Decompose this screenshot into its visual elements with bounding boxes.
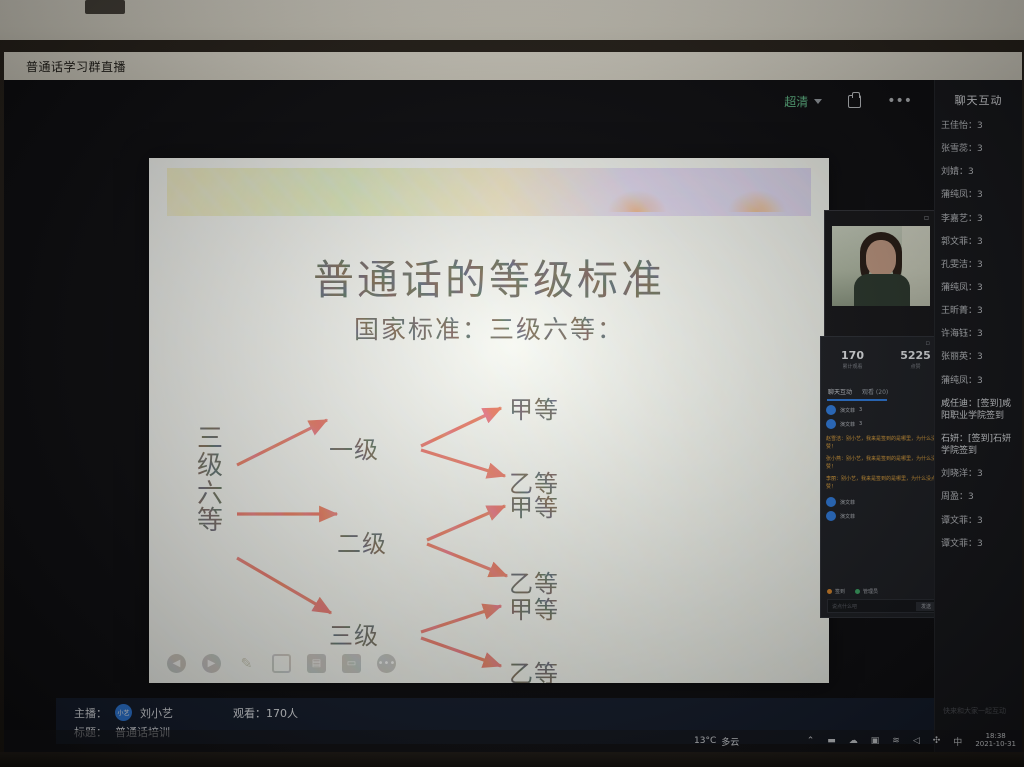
message-name: 演文菲	[840, 421, 855, 428]
tab-viewers[interactable]: 观看 (20)	[862, 387, 888, 396]
list-item: 张丽英：3	[941, 351, 1016, 363]
diagram-root-label: 三级六等	[187, 426, 233, 535]
list-item: 谭文菲：3	[941, 515, 1016, 527]
list-item: 孔雯洁：3	[941, 259, 1016, 271]
weather-temp: 13°C	[694, 736, 716, 746]
wifi-icon[interactable]: ≋	[892, 736, 900, 746]
more-icon[interactable]: •••	[377, 654, 396, 673]
list-item: 周盈：3	[941, 491, 1016, 503]
list-item: 郭文菲：3	[941, 236, 1016, 248]
viewer-count: 观看：170人	[233, 705, 298, 721]
stat-viewers-value: 170	[821, 349, 884, 362]
chevron-up-icon[interactable]: ⌃	[807, 736, 815, 746]
message-name: 演文菲	[840, 407, 855, 414]
diagram-grade-2a: 甲等	[509, 488, 559, 523]
mini-panel-controls: ▫ ✕	[821, 337, 947, 349]
pip-window-controls: ▫ ✕	[825, 211, 948, 224]
list-item: 刘晓洋：3	[941, 468, 1016, 480]
slide-toolbar: ◀ ▶ ✎ ▤ ▭ •••	[167, 654, 396, 673]
presentation-slide: 普通话的等级标准 国家标准：三级六等：	[149, 158, 829, 683]
admin-dot-icon	[855, 589, 860, 594]
list-item: 演文菲	[826, 497, 942, 507]
previous-slide-icon[interactable]: ◀	[167, 654, 186, 673]
quality-label: 超清	[784, 93, 808, 110]
avatar	[826, 511, 836, 521]
list-item: 演文菲	[826, 511, 942, 521]
list-item: 王昕菁：3	[941, 305, 1016, 317]
diagram-grade-3b: 乙等	[509, 654, 559, 683]
grade-diagram: 三级六等 一级 二级 三级 甲等 乙等 甲等 乙等 甲等 乙等	[149, 158, 829, 683]
highlight-message: 赵雪洁：别小艺，我来是签到的是哪里，为什么没点赞！	[821, 433, 947, 453]
screen-content: 普通话学习群直播 超清 •••	[4, 52, 1022, 752]
mini-panel-stats: 170 累计观看 5225 点赞	[821, 349, 947, 383]
mini-chat-placeholder: 说点什么吧	[832, 603, 857, 610]
stat-viewers-label: 累计观看	[821, 363, 884, 370]
cloud-icon[interactable]: ☁	[849, 736, 858, 746]
browser-tab-label: 普通话学习群直播	[26, 58, 126, 75]
background-object	[85, 0, 125, 14]
battery-icon[interactable]: ▬	[827, 736, 836, 746]
minimize-icon[interactable]: ▫	[924, 214, 929, 222]
list-item: 张雪蕊：3	[941, 143, 1016, 155]
host-row: 主播： 小艺 刘小艺 观看：170人	[74, 704, 916, 721]
mini-panel-legend: 签到 管理员	[827, 588, 941, 595]
diagram-arrows	[149, 158, 829, 683]
ime-indicator[interactable]: 中	[953, 735, 962, 748]
list-item: 蒲纯凤：3	[941, 282, 1016, 294]
chat-sidebar-title: 聊天互动	[935, 80, 1022, 118]
chevron-down-icon	[814, 99, 822, 104]
stat-viewers: 170 累计观看	[821, 349, 884, 383]
highlight-message: 张小燕：别小艺，我来是签到的是哪里，为什么没点赞！	[821, 453, 947, 473]
message-name: 演文菲	[840, 513, 855, 520]
send-button[interactable]: 发送	[916, 602, 936, 611]
highlight-message: 李丽：别小艺，我来是签到的是哪里，为什么没点赞！	[821, 473, 947, 493]
floating-stats-panel[interactable]: ▫ ✕ 170 累计观看 5225 点赞 聊	[820, 336, 948, 618]
mini-panel-tabs: 聊天互动 观看 (20)	[821, 383, 947, 396]
diagram-level-1: 一级	[329, 430, 379, 465]
weather-desc: 多云	[721, 735, 739, 748]
mini-panel-message-list-bottom: 演文菲 演文菲	[821, 493, 947, 525]
minimize-icon[interactable]: ▫	[925, 340, 930, 347]
clock-date: 2021-10-31	[975, 741, 1016, 749]
avatar	[826, 497, 836, 507]
sidebar-chat-input[interactable]: 快来和大家一起互动	[943, 706, 1014, 716]
legend-signin-label: 签到	[835, 588, 845, 595]
volume-icon[interactable]: ◁	[913, 736, 920, 746]
background-wall	[0, 0, 1024, 44]
pen-icon[interactable]: ✎	[237, 654, 256, 673]
legend-admin-label: 管理员	[863, 588, 878, 595]
host-name: 刘小艺	[140, 705, 173, 721]
weather-widget[interactable]: 13°C 多云	[694, 735, 739, 748]
avatar	[826, 405, 836, 415]
avatar: 小艺	[115, 704, 132, 721]
share-icon[interactable]	[848, 95, 861, 108]
message-name: 演文菲	[840, 499, 855, 506]
message-text: 3	[859, 421, 862, 427]
photos-icon[interactable]: ▣	[871, 736, 880, 746]
windows-taskbar: 13°C 多云 ⌃ ▬ ☁ ▣ ≋ ◁ ✣ 中 18:38 2021-10-31	[4, 730, 1022, 752]
diagram-grade-3a: 甲等	[509, 590, 559, 625]
livestream-page: 超清 ••• 普通话的等级标准 国家标准：三级六等：	[4, 80, 1022, 752]
list-item: 李嘉艺：3	[941, 213, 1016, 225]
diagram-grade-1a: 甲等	[509, 390, 559, 425]
webcam-pip-window[interactable]: ▫ ✕	[824, 210, 949, 340]
list-item: 石妍：[签到]石妍学院签到	[941, 433, 1016, 457]
player-column: 超清 ••• 普通话的等级标准 国家标准：三级六等：	[4, 80, 934, 752]
legend-admin: 管理员	[855, 588, 878, 595]
quality-selector[interactable]: 超清	[784, 93, 822, 110]
clock[interactable]: 18:38 2021-10-31	[975, 733, 1016, 748]
laptop-screen-photo: 普通话学习群直播 超清 •••	[0, 0, 1024, 767]
list-item: 谭文菲：3	[941, 538, 1016, 550]
more-options-icon[interactable]: •••	[887, 94, 912, 108]
browser-tab[interactable]: 普通话学习群直播	[26, 58, 126, 75]
avatar	[826, 419, 836, 429]
diagram-level-2: 二级	[337, 524, 387, 559]
host-key-label: 主播：	[74, 705, 107, 721]
list-item: 演文菲 3	[826, 419, 942, 429]
list-item: 王佳怡：3	[941, 120, 1016, 132]
legend-signin: 签到	[827, 588, 845, 595]
webcam-video	[832, 226, 930, 306]
mini-panel-message-list: 演文菲 3 演文菲 3	[821, 401, 947, 433]
list-item: 咸任迪：[签到]咸阳职业学院签到	[941, 398, 1016, 422]
chat-message-list: 王佳怡：3 张雪蕊：3 刘婧：3 蒲纯凤：3 李嘉艺：3 郭文菲：3 孔雯洁：3…	[935, 118, 1022, 552]
player-toolbar: 超清 •••	[4, 80, 934, 122]
laptop-base	[0, 752, 1024, 767]
list-item: 蒲纯凤：3	[941, 189, 1016, 201]
avatar-face	[866, 240, 896, 276]
browser-tabstrip: 普通话学习群直播	[4, 52, 1022, 80]
list-item: 刘婧：3	[941, 166, 1016, 178]
mini-chat-input[interactable]: 说点什么吧 发送	[827, 599, 941, 613]
tab-chat[interactable]: 聊天互动	[828, 387, 852, 396]
record-video-icon[interactable]: ▤	[307, 654, 326, 673]
list-item: 许海钰：3	[941, 328, 1016, 340]
list-item: 演文菲 3	[826, 405, 942, 415]
chat-sidebar: 聊天互动 王佳怡：3 张雪蕊：3 刘婧：3 蒲纯凤：3 李嘉艺：3 郭文菲：3 …	[934, 80, 1022, 752]
comment-icon[interactable]: ▭	[342, 654, 361, 673]
mini-panel-footer: 签到 管理员 说点什么吧 发送	[821, 584, 947, 617]
screenshot-icon[interactable]	[272, 654, 291, 673]
avatar-torso	[854, 274, 910, 306]
list-item: 蒲纯凤：3	[941, 375, 1016, 387]
signin-dot-icon	[827, 589, 832, 594]
diagram-level-3: 三级	[329, 616, 379, 651]
play-icon[interactable]: ▶	[202, 654, 221, 673]
message-text: 3	[859, 407, 862, 413]
bluetooth-icon[interactable]: ✣	[933, 736, 941, 746]
